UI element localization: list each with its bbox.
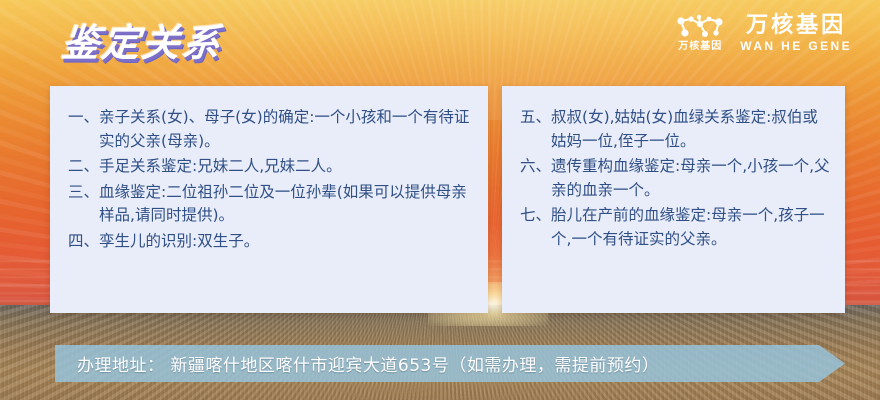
relations-panel-right: 五、 叔叔(女),姑姑(女)血绿关系鉴定:叔伯或姑妈一位,侄子一位。 六、 遗传… [502,86,845,313]
list-item-number: 三、 [68,181,99,205]
list-item-text: 亲子关系(女)、母子(女)的确定:一个小孩和一个有待证实的父亲(母亲)。 [99,106,474,153]
list-item-number: 五、 [520,106,551,130]
list-item-text: 血缘鉴定:二位祖孙二位及一位孙辈(如果可以提供母亲样品,请同时提供)。 [99,181,474,228]
poster-canvas: 鉴定关系 [0,0,880,400]
list-item-text: 遗传重构血缘鉴定:母亲一个,小孩一个,父亲的血亲一个。 [551,155,831,202]
dna-molecule-icon [676,14,724,40]
brand-name-en: WAN HE GENE [740,40,852,53]
list-item-text: 孪生儿的识别:双生子。 [99,230,474,254]
brand-logo: 万核基因 万核基因 WAN HE GENE [676,14,852,53]
list-item: 二、 手足关系鉴定:兄妹二人,兄妹二人。 [68,155,474,179]
address-banner: 办理地址： 新疆喀什地区喀什市迎宾大道653号（如需办理，需提前预约） [55,345,845,382]
relations-panel-left: 一、 亲子关系(女)、母子(女)的确定:一个小孩和一个有待证实的父亲(母亲)。 … [50,86,488,313]
list-item-number: 二、 [68,155,99,179]
list-item: 六、 遗传重构血缘鉴定:母亲一个,小孩一个,父亲的血亲一个。 [520,155,831,202]
page-title: 鉴定关系 [59,12,225,67]
brand-name-cn: 万核基因 [746,14,846,37]
address-banner-text: 办理地址： 新疆喀什地区喀什市迎宾大道653号（如需办理，需提前预约） [55,351,659,376]
list-item: 一、 亲子关系(女)、母子(女)的确定:一个小孩和一个有待证实的父亲(母亲)。 [68,106,474,153]
list-item-text: 胎儿在产前的血缘鉴定:母亲一个,孩子一个,一个有待证实的父亲。 [551,204,831,251]
logo-mark-label: 万核基因 [678,42,722,52]
list-item-number: 一、 [68,106,99,130]
list-item: 七、 胎儿在产前的血缘鉴定:母亲一个,孩子一个,一个有待证实的父亲。 [520,204,831,251]
list-item-text: 手足关系鉴定:兄妹二人,兄妹二人。 [99,155,474,179]
brand-wordmark: 万核基因 WAN HE GENE [740,14,852,53]
list-item: 五、 叔叔(女),姑姑(女)血绿关系鉴定:叔伯或姑妈一位,侄子一位。 [520,106,831,153]
list-item-number: 六、 [520,155,551,179]
list-item: 三、 血缘鉴定:二位祖孙二位及一位孙辈(如果可以提供母亲样品,请同时提供)。 [68,181,474,228]
list-item-text: 叔叔(女),姑姑(女)血绿关系鉴定:叔伯或姑妈一位,侄子一位。 [551,106,831,153]
logo-mark: 万核基因 [676,14,724,52]
list-item: 四、 孪生儿的识别:双生子。 [68,230,474,254]
list-item-number: 七、 [520,204,551,228]
list-item-number: 四、 [68,230,99,254]
